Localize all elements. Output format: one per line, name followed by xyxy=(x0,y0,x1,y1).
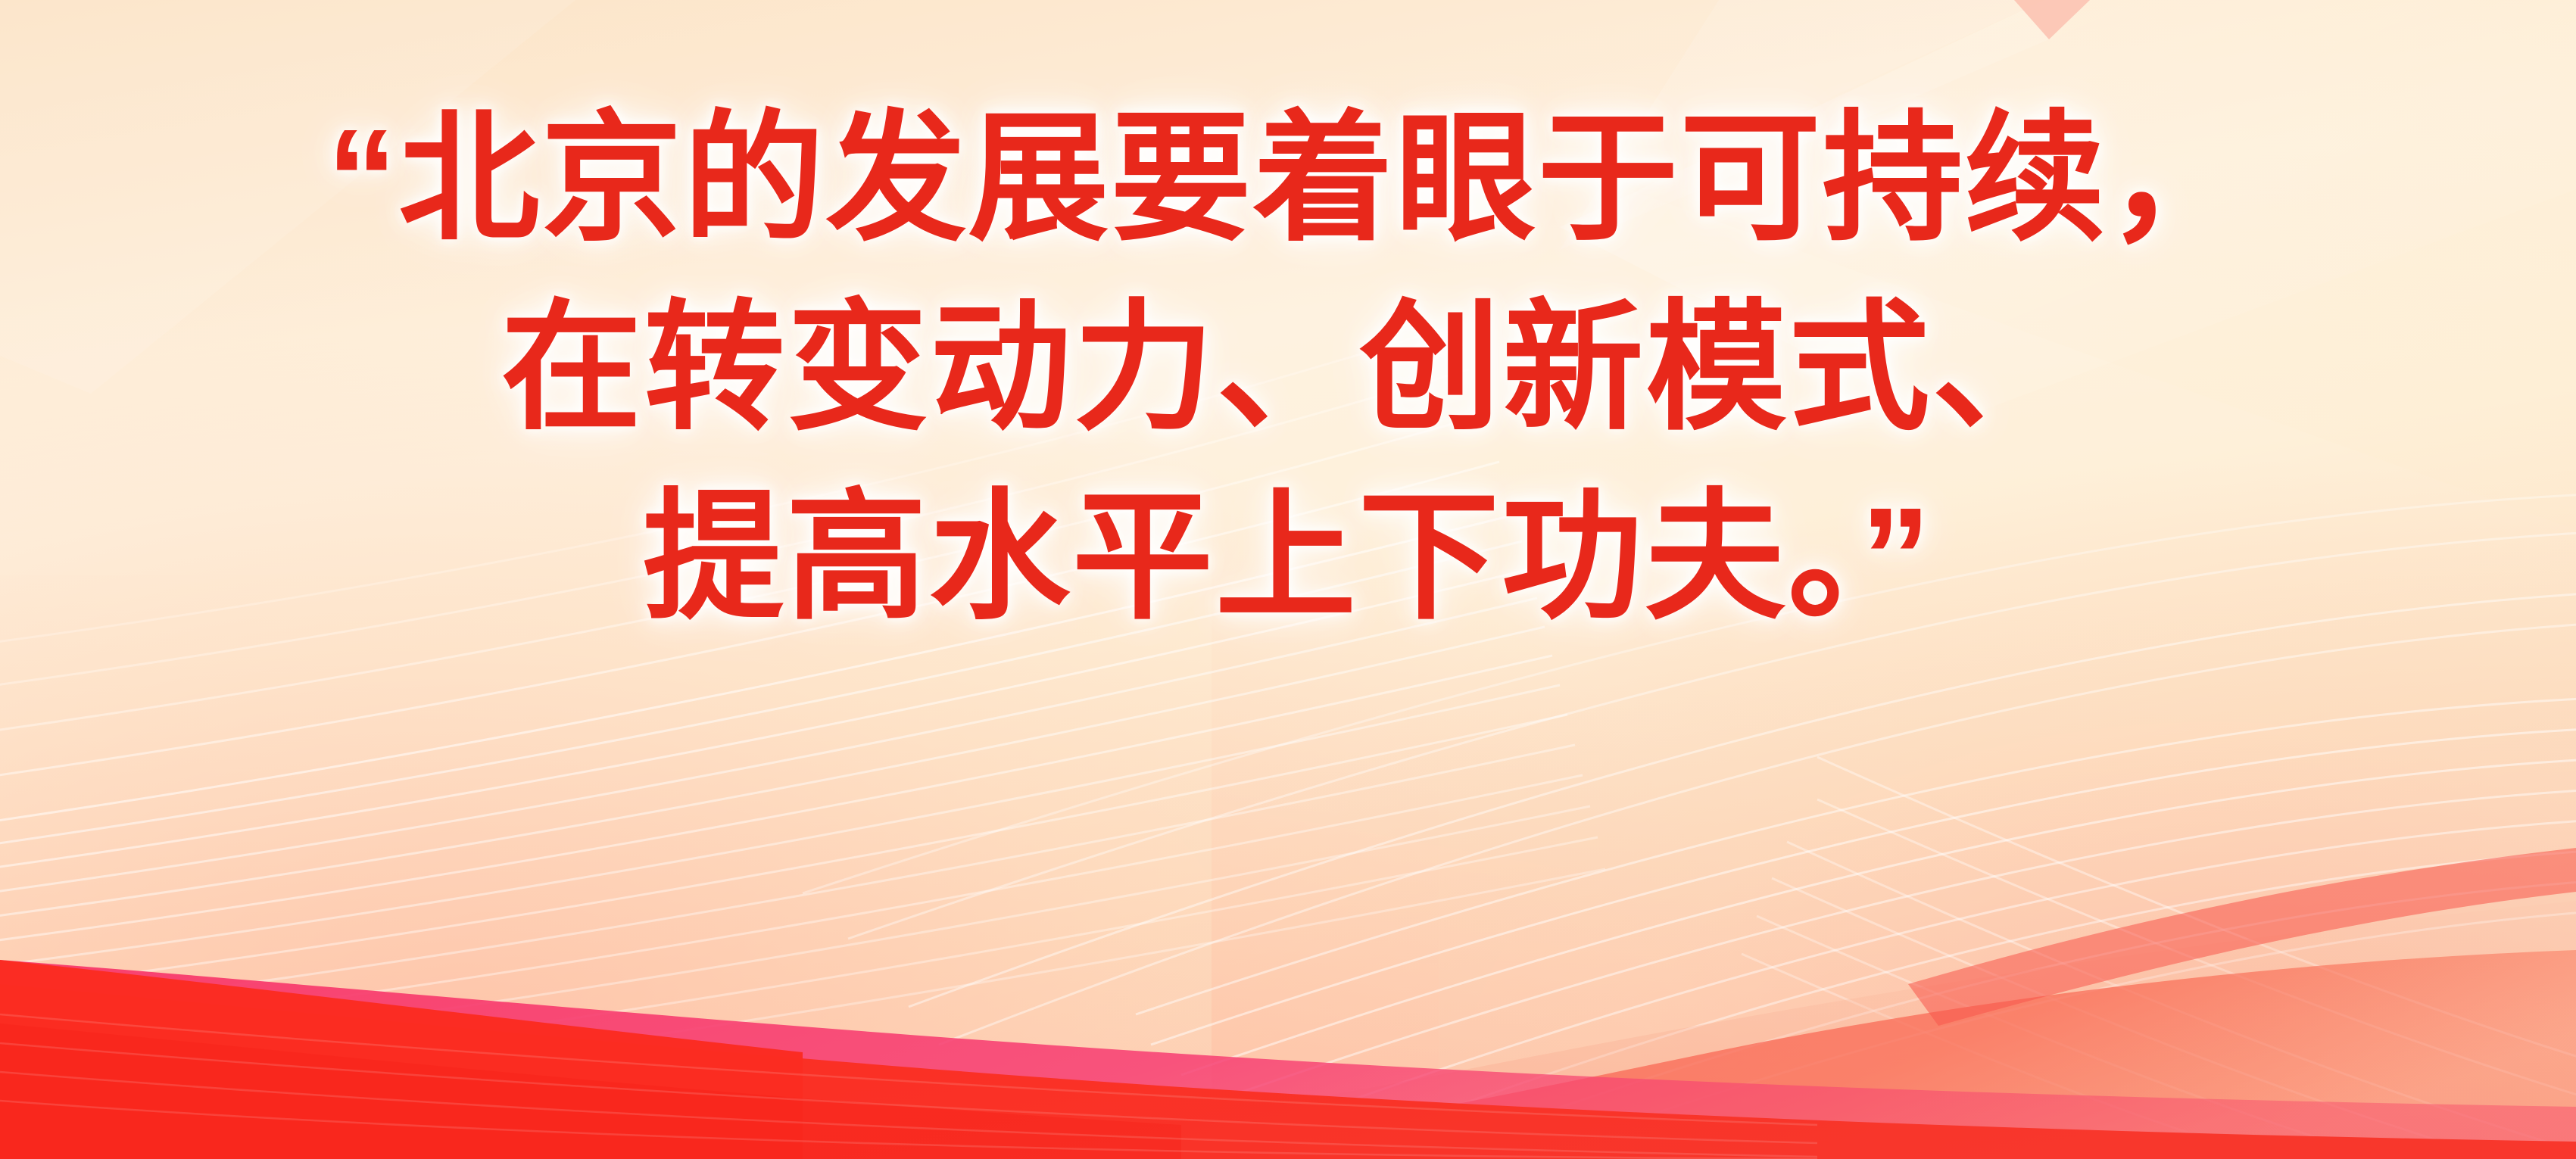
quote-banner: “北京的发展要着眼于可持续， 在转变动力、创新模式、 提高水平上下功夫。” xyxy=(0,0,2576,1159)
left-peach-glow xyxy=(0,575,1439,1159)
right-coral-stripe xyxy=(1908,848,2576,1026)
top-notch-pink-triangle xyxy=(2014,0,2090,39)
bottom-right-soft-ribbon xyxy=(681,901,2576,1159)
quote-line-1: “北京的发展要着眼于可持续， xyxy=(0,85,2576,274)
red-wave-sheen xyxy=(0,1023,1181,1159)
red-wave-hairlines xyxy=(0,1014,1817,1159)
bottom-left-red-wedge xyxy=(0,960,803,1159)
quote-line-2: 在转变动力、创新模式、 xyxy=(0,274,2576,463)
quote-text-block: “北京的发展要着眼于可持续， 在转变动力、创新模式、 提高水平上下功夫。” xyxy=(0,85,2576,653)
bottom-red-wave xyxy=(0,984,2576,1159)
quote-line-3: 提高水平上下功夫。” xyxy=(0,463,2576,653)
bottom-pink-band xyxy=(0,960,2576,1159)
bottom-right-coral-ribbon xyxy=(1212,950,2576,1159)
